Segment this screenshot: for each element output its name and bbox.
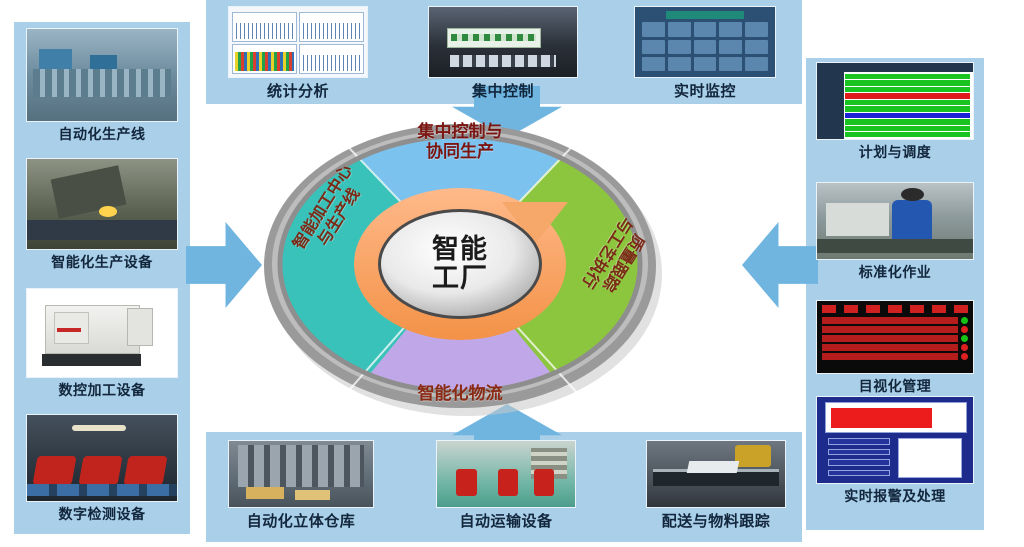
thumbnail-material-tracking [646, 440, 786, 508]
thumbnail-asrs-warehouse [228, 440, 374, 508]
card-caption: 标准化作业 [859, 265, 932, 280]
card-caption: 目视化管理 [859, 379, 932, 394]
thumbnail-smart-equipment [26, 158, 178, 250]
card-digital-inspection[interactable]: 数字检测设备 [26, 414, 178, 522]
card-standard-work[interactable]: 标准化作业 [816, 182, 974, 280]
card-caption: 智能化生产设备 [51, 255, 153, 270]
thumbnail-automated-line [26, 28, 178, 122]
card-statistics[interactable]: 统计分析 [228, 6, 368, 101]
card-caption: 数字检测设备 [59, 507, 146, 522]
card-caption: 实时报警及处理 [844, 489, 946, 504]
card-auto-transport[interactable]: 自动运输设备 [436, 440, 576, 531]
thumbnail-realtime-alarm [816, 396, 974, 484]
thumbnail-realtime-monitor [634, 6, 776, 78]
card-visual-management[interactable]: 目视化管理 [816, 300, 974, 394]
card-caption: 计划与调度 [859, 145, 932, 160]
hub-title-line2: 工厂 [432, 264, 488, 293]
card-planning-scheduling[interactable]: 计划与调度 [816, 62, 974, 160]
card-caption: 自动化立体仓库 [247, 514, 356, 531]
thumbnail-visual-management [816, 300, 974, 374]
segment-label-top: 集中控制与协同生产 [418, 122, 503, 162]
card-caption: 配送与物料跟踪 [662, 514, 771, 531]
thumbnail-statistics [228, 6, 368, 78]
thumbnail-standard-work [816, 182, 974, 260]
card-caption: 集中控制 [472, 84, 534, 101]
card-realtime-alarm[interactable]: 实时报警及处理 [816, 396, 974, 504]
card-asrs-warehouse[interactable]: 自动化立体仓库 [228, 440, 374, 531]
thumbnail-central-control [428, 6, 578, 78]
thumbnail-auto-transport [436, 440, 576, 508]
thumbnail-planning-scheduling [816, 62, 974, 140]
hub-title-line1: 智能 [432, 235, 488, 264]
smart-factory-wheel: 智能 工厂 集中控制与协同生产 质量跟踪与工艺执行 智能化物流 智能加工中心与生… [250, 108, 670, 420]
card-caption: 实时监控 [674, 84, 736, 101]
card-material-tracking[interactable]: 配送与物料跟踪 [646, 440, 786, 531]
card-cnc-equipment[interactable]: 数控加工设备 [26, 288, 178, 398]
thumbnail-digital-inspection [26, 414, 178, 502]
card-caption: 自动运输设备 [459, 514, 552, 531]
thumbnail-cnc-equipment [26, 288, 178, 378]
card-caption: 自动化生产线 [59, 127, 146, 142]
card-smart-equipment[interactable]: 智能化生产设备 [26, 158, 178, 270]
infographic-canvas: 统计分析 集中控制 实时监控 自动化立体仓库 自动运输设备 配送与物料跟踪 [0, 0, 1024, 547]
segment-label-bottom: 智能化物流 [418, 384, 503, 404]
card-automated-line[interactable]: 自动化生产线 [26, 28, 178, 142]
card-caption: 统计分析 [267, 84, 329, 101]
card-central-control[interactable]: 集中控制 [428, 6, 578, 101]
hub-title: 智能 工厂 [432, 235, 488, 293]
card-caption: 数控加工设备 [59, 383, 146, 398]
card-realtime-monitor[interactable]: 实时监控 [634, 6, 776, 101]
